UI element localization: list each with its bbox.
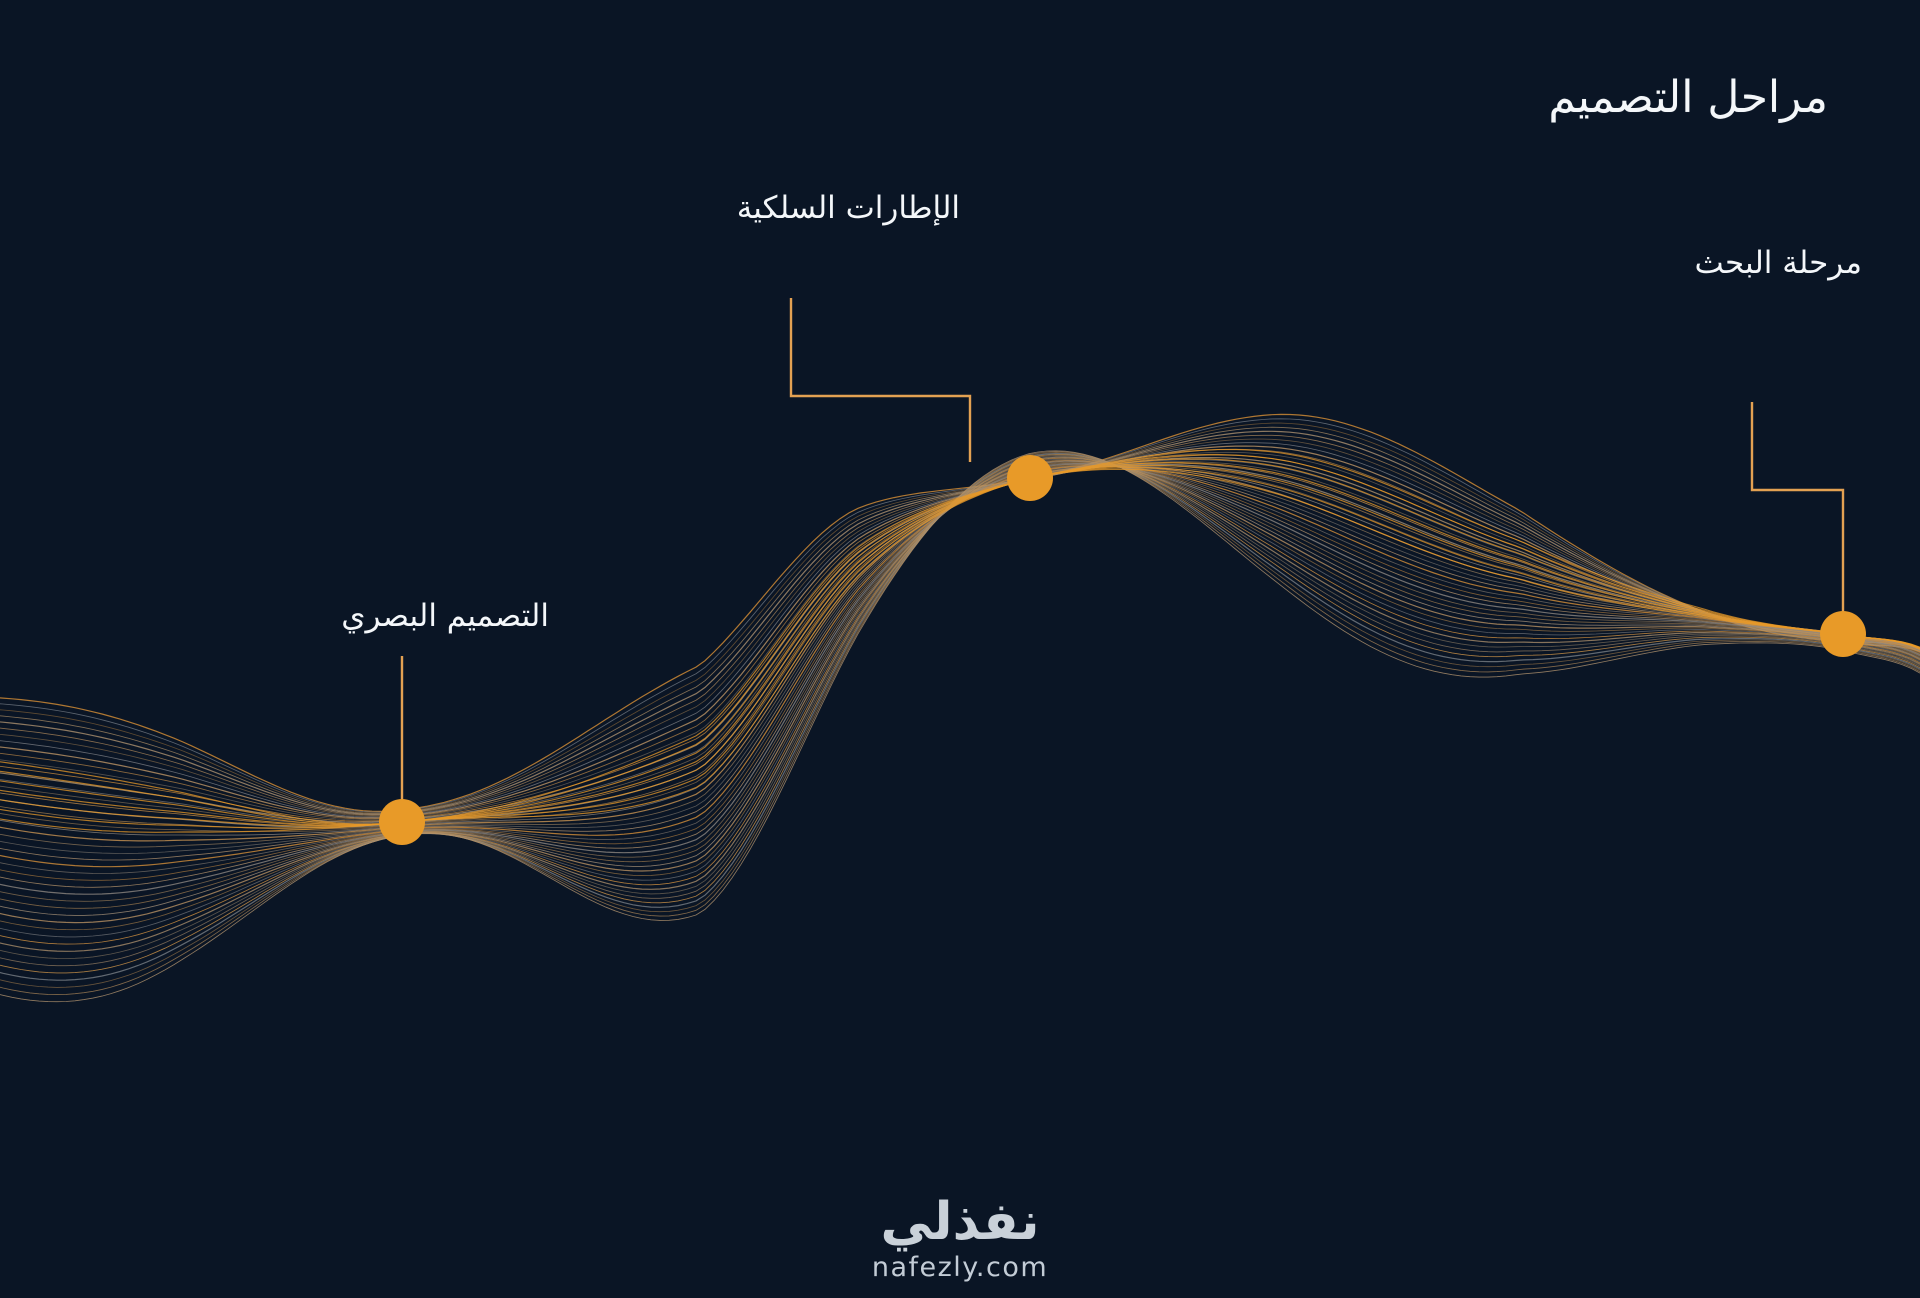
page-title: مراحل التصميم [1548,72,1828,123]
connector-wireframes [791,298,970,462]
node-dot-visual-design[interactable] [379,799,425,845]
node-label-wireframes[interactable]: الإطارات السلكية [737,190,960,226]
connector-overlay [0,0,1920,1298]
logo-domain-text: nafezly.com [0,1254,1920,1281]
node-label-research[interactable]: مرحلة البحث [1695,245,1862,281]
node-dot-wireframes[interactable] [1007,455,1053,501]
node-label-visual-design[interactable]: التصميم البصري [341,598,549,634]
logo-wordmark-arabic: نفذلي [0,1196,1920,1248]
node-dot-research[interactable] [1820,611,1866,657]
brand-logo[interactable]: نفذلي nafezly.com [0,1196,1920,1281]
connector-research [1752,402,1843,612]
infographic-canvas: مراحل التصميم مرحلة البحث الإطارات السلك… [0,0,1920,1298]
